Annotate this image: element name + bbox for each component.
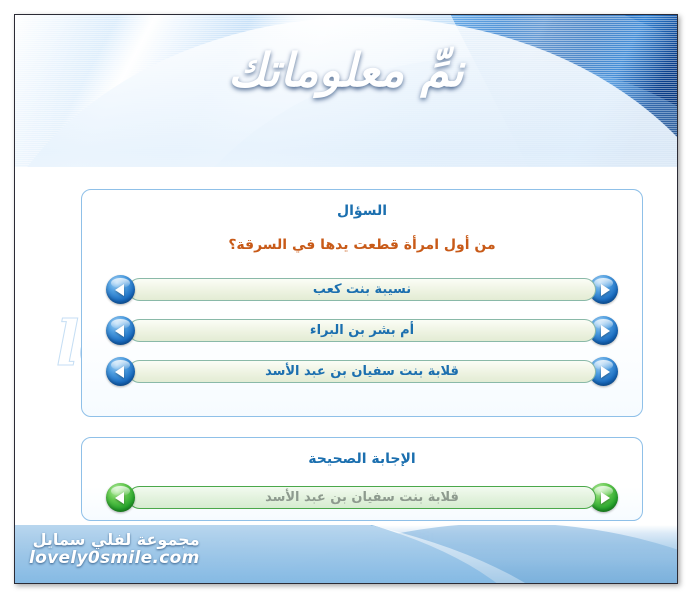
correct-answer-bar[interactable]: قلابة بنت سفيان بن عبد الأسد (128, 486, 596, 509)
correct-answer-panel: الإجابة الصحيحة قلابة بنت سفيان بن عبد ا… (81, 437, 643, 521)
site-header-banner: نمِّ معلوماتك (15, 15, 677, 167)
correct-answer-label: قلابة بنت سفيان بن عبد الأسد (265, 490, 459, 505)
question-panel: السؤال من أول امرأة قطعت يدها في السرقة؟… (81, 189, 643, 417)
main-content: lovely0smile.com السؤال من أول امرأة قطع… (15, 167, 677, 525)
option-bar[interactable]: قلابة بنت سفيان بن عبد الأسد (128, 360, 596, 383)
option-row[interactable]: قلابة بنت سفيان بن عبد الأسد (106, 357, 618, 386)
play-left-arrow-icon[interactable] (106, 483, 135, 512)
option-label: أم بشر بن البراء (310, 323, 414, 338)
play-left-arrow-icon[interactable] (106, 316, 135, 345)
option-label: قلابة بنت سفيان بن عبد الأسد (265, 364, 459, 379)
site-footer: مجموعة لفلي سمايل lovely0smile.com (15, 525, 677, 583)
header-sheen-right (335, 15, 677, 167)
correct-answer-row[interactable]: قلابة بنت سفيان بن عبد الأسد (106, 483, 618, 512)
header-curve-primary (15, 17, 677, 167)
option-label: نسيبة بنت كعب (313, 282, 411, 297)
question-text: من أول امرأة قطعت يدها في السرقة؟ (82, 237, 642, 253)
play-left-arrow-icon[interactable] (106, 275, 135, 304)
header-curve-secondary (135, 57, 677, 167)
header-sheen-left (15, 15, 537, 167)
option-row[interactable]: نسيبة بنت كعب (106, 275, 618, 304)
site-logo-text: نمِّ معلوماتك (15, 43, 677, 97)
page-frame: نمِّ معلوماتك lovely0smile.com السؤال من… (14, 14, 678, 584)
answer-panel-title: الإجابة الصحيحة (82, 451, 642, 467)
question-panel-title: السؤال (82, 203, 642, 219)
option-row[interactable]: أم بشر بن البراء (106, 316, 618, 345)
option-bar[interactable]: نسيبة بنت كعب (128, 278, 596, 301)
header-stripe-texture (15, 15, 677, 167)
option-bar[interactable]: أم بشر بن البراء (128, 319, 596, 342)
options-list: نسيبة بنت كعب أم بشر بن البراء (82, 275, 642, 386)
play-left-arrow-icon[interactable] (106, 357, 135, 386)
